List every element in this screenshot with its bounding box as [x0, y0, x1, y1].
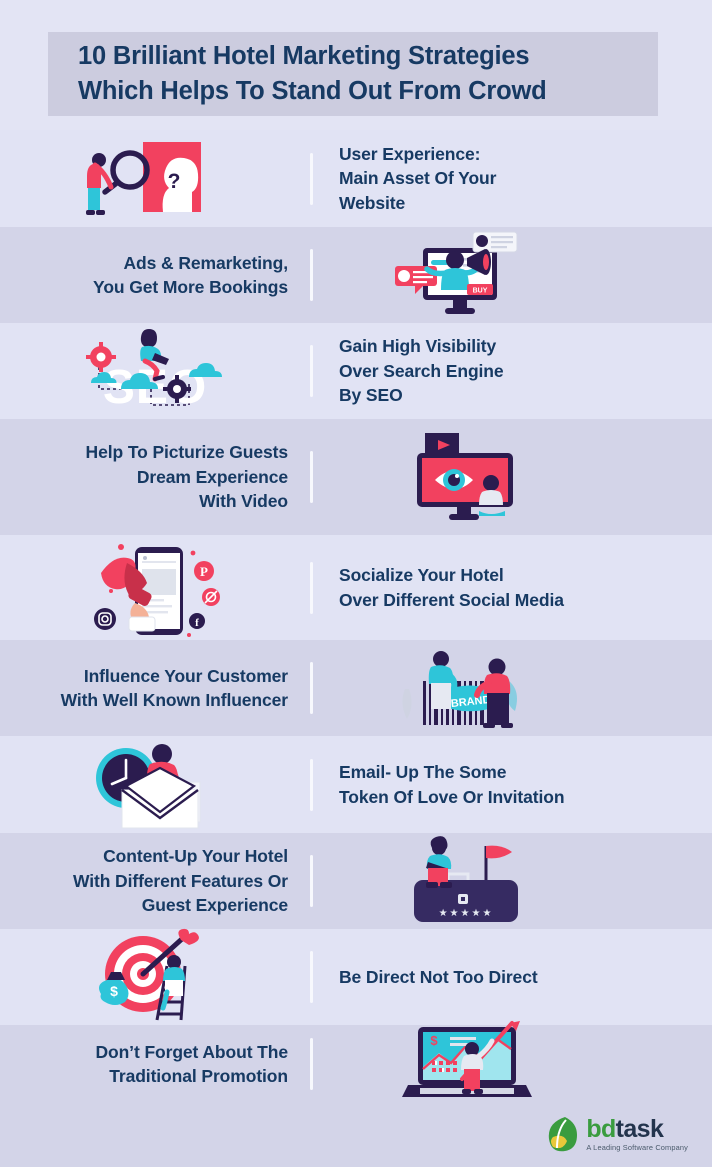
infographic-page: 10 Brilliant Hotel Marketing Strategies …: [0, 0, 712, 1167]
strategy-label-3: Gain High Visibility Over Search Engine …: [313, 334, 623, 408]
illustration-email-clock: [0, 736, 310, 833]
page-title-line-1: 10 Brilliant Hotel Marketing Strategies: [78, 39, 658, 74]
logo-wordmark: bdtask: [586, 1117, 663, 1142]
strategy-label-7: Email- Up The Some Token Of Love Or Invi…: [313, 760, 623, 809]
strategy-row-7: Email- Up The Some Token Of Love Or Invi…: [0, 736, 712, 833]
illustration-magnifier-persona: ?: [0, 130, 310, 227]
illustration-phone-social: P f: [0, 535, 310, 640]
strategy-label-8: Content-Up Your Hotel With Different Fea…: [0, 844, 310, 918]
strategy-label-4: Help To Picturize Guests Dream Experienc…: [0, 440, 310, 514]
illustration-brand-influencer: BRAND: [313, 640, 623, 736]
seo-letters-icon: SEO: [85, 327, 225, 415]
bdtask-logo[interactable]: bdtask A Leading Software Company: [545, 1115, 688, 1153]
svg-text:f: f: [195, 617, 199, 629]
magnifier-persona-icon: ?: [85, 136, 225, 222]
monitor-megaphone-ads-icon: BUY: [393, 232, 543, 318]
phone-megaphone-social-icon: P f: [89, 539, 221, 637]
illustration-video-eye: [313, 419, 623, 535]
strategy-label-9: Be Direct Not Too Direct: [313, 965, 623, 990]
illustration-target-dart: $: [0, 929, 310, 1025]
money-bag-currency: $: [110, 983, 118, 999]
logo-bd-text: bd: [586, 1115, 615, 1143]
strategy-row-4: Help To Picturize Guests Dream Experienc…: [0, 419, 712, 535]
illustration-laptop-growth: $: [313, 1025, 623, 1103]
illustration-briefcase-flag: ★★★★★: [313, 833, 623, 929]
footer: bdtask A Leading Software Company: [0, 1103, 712, 1167]
video-eye-monitor-icon: [405, 431, 531, 523]
strategy-row-6: Influence Your Customer With Well Known …: [0, 640, 712, 736]
dollar-badge-glyph: $: [430, 1033, 438, 1048]
strategy-row-9: $ Be Direct Not Too Direct: [0, 929, 712, 1025]
strategy-row-8: Content-Up Your Hotel With Different Fea…: [0, 833, 712, 929]
target-dart-ladder-icon: $: [89, 932, 221, 1022]
page-title-line-2: Which Helps To Stand Out From Crowd: [78, 74, 658, 109]
strategy-label-1: User Experience: Main Asset Of Your Webs…: [313, 142, 623, 216]
title-band: 10 Brilliant Hotel Marketing Strategies …: [48, 32, 658, 116]
question-mark-glyph: ?: [168, 170, 181, 193]
strategy-label-6: Influence Your Customer With Well Known …: [0, 664, 310, 713]
strategy-row-5: P f: [0, 535, 712, 640]
strategy-label-2: Ads & Remarketing, You Get More Bookings: [0, 251, 310, 300]
brand-banner-barcode-icon: BRAND: [397, 645, 539, 731]
header: 10 Brilliant Hotel Marketing Strategies …: [0, 0, 712, 130]
strategy-row-10: Don’t Forget About The Traditional Promo…: [0, 1025, 712, 1103]
illustration-seo: SEO: [0, 323, 310, 419]
laptop-growth-chart-icon: $: [402, 1023, 534, 1105]
illustration-monitor-megaphone-ads: BUY: [313, 227, 623, 323]
leaf-logo-icon: [545, 1115, 579, 1153]
buy-button-label: BUY: [473, 288, 488, 295]
logo-task-text: task: [616, 1115, 664, 1143]
strategy-row-2: Ads & Remarketing, You Get More Bookings: [0, 227, 712, 323]
strategy-label-5: Socialize Your Hotel Over Different Soci…: [313, 563, 623, 612]
envelope-clock-icon: [86, 740, 224, 830]
strategy-row-3: SEO: [0, 323, 712, 419]
logo-tagline: A Leading Software Company: [586, 1143, 688, 1152]
svg-text:P: P: [200, 564, 208, 579]
strategy-row-1: ? User Experience: Main Asset Of Your We…: [0, 130, 712, 227]
star-rating-glyph: ★★★★★: [439, 908, 494, 919]
briefcase-flag-stars-icon: ★★★★★: [404, 836, 532, 926]
strategy-label-10: Don’t Forget About The Traditional Promo…: [0, 1040, 310, 1089]
